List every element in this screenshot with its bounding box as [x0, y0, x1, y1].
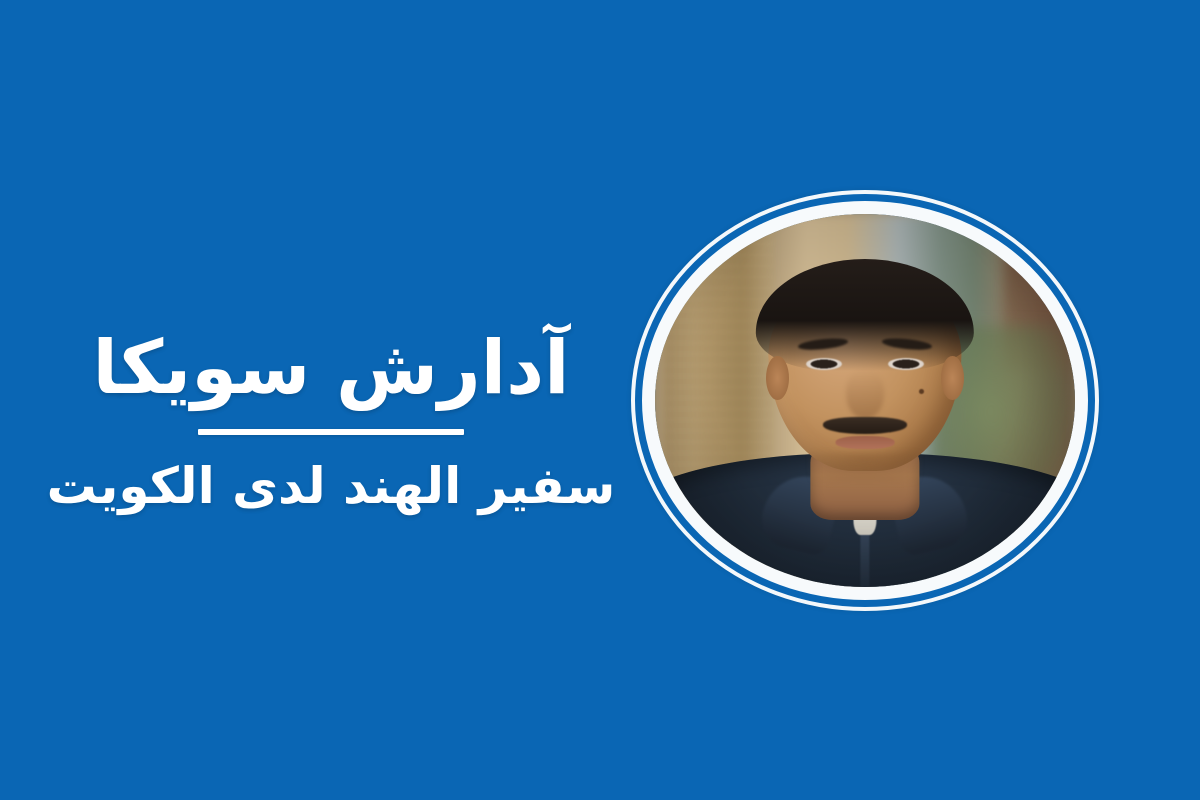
photo-chin: [810, 453, 919, 483]
photo-cheek-mole: [919, 389, 924, 394]
divider-wrapper: [0, 429, 662, 435]
photo-nose: [846, 371, 884, 419]
photo-ear-right: [941, 356, 964, 401]
photo-lips: [836, 436, 895, 449]
portrait-medallion: [631, 190, 1099, 611]
title-divider: [198, 429, 464, 435]
page-title: آدارش سويكا: [0, 330, 662, 407]
photo-eye-right: [888, 358, 924, 370]
portrait-photo: [655, 214, 1075, 587]
photo-eye-left: [806, 358, 842, 370]
page-subtitle: سفير الهند لدى الكويت: [0, 459, 662, 514]
poster-canvas: آدارش سويكا سفير الهند لدى الكويت: [0, 0, 1200, 800]
text-block: آدارش سويكا سفير الهند لدى الكويت: [0, 330, 662, 514]
